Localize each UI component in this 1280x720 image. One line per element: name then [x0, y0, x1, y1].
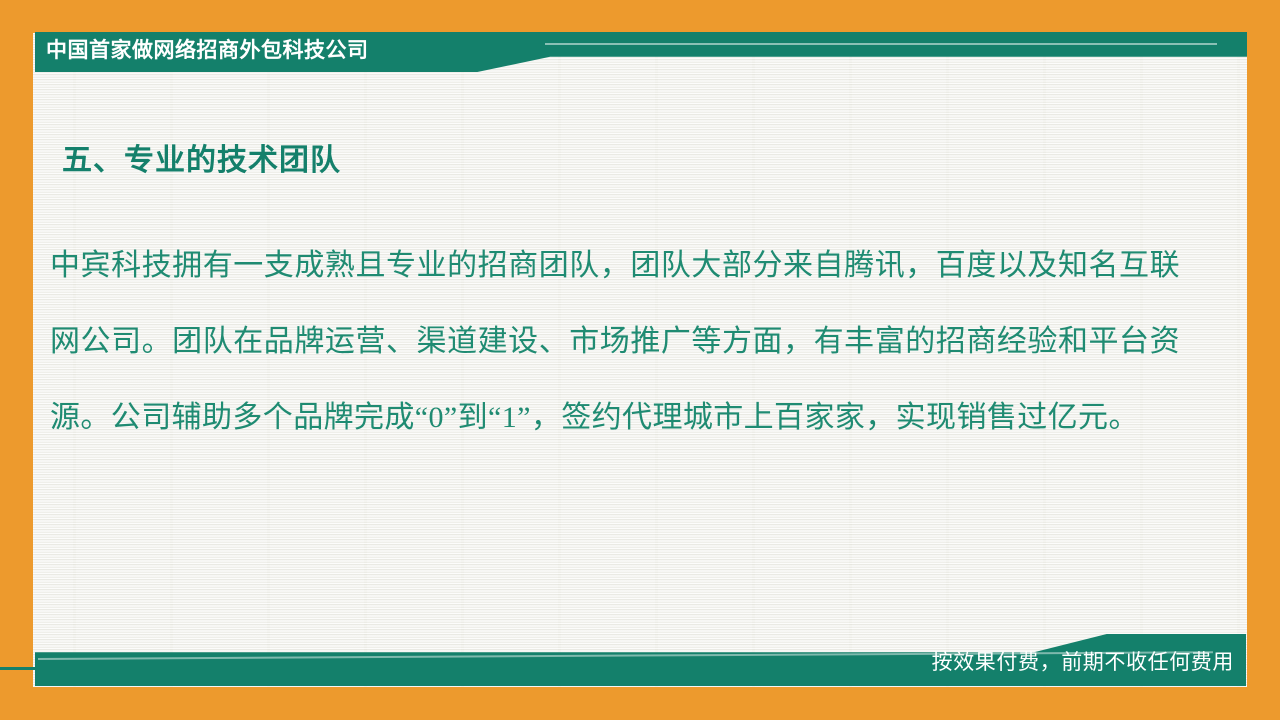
body-paragraph: 中宾科技拥有一支成熟且专业的招商团队，团队大部分来自腾讯，百度以及知名互联网公司…: [50, 228, 1180, 456]
header-hairline-divider: [545, 43, 1217, 45]
slide-canvas: 中国首家做网络招商外包科技公司 五、专业的技术团队 中宾科技拥有一支成熟且专业的…: [0, 0, 1280, 720]
footer-tagline: 按效果付费，前期不收任何费用: [932, 648, 1234, 678]
header-title: 中国首家做网络招商外包科技公司: [46, 34, 369, 68]
section-heading: 五、专业的技术团队: [62, 135, 341, 179]
footer-left-tab: [0, 667, 38, 670]
